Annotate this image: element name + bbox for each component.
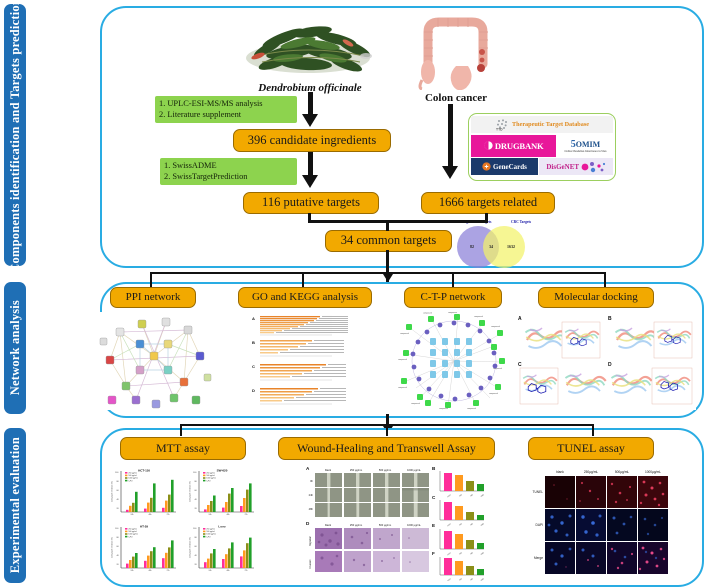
svg-text:250: 250 [459,523,463,526]
svg-text:Invasion: Invasion [309,559,312,569]
svg-text:C: C [252,364,255,369]
svg-text:compound: compound [423,313,432,315]
genecards-icon [482,162,491,171]
mtt-chart-title-hct116: HCT-116 [138,469,150,473]
network-bus-drop-docking [604,272,606,288]
panel-title-molecular-docking[interactable]: Molecular docking [538,287,654,308]
tunel-row-dapi: DAPI [536,523,544,527]
svg-text:500: 500 [470,523,474,526]
svg-text:48h: 48h [227,570,230,572]
experimental-bus-drop-mtt [180,424,182,436]
method-box-identification: 1. UPLC-ESI-MS/MS analysis 2. Literature… [155,96,297,123]
connector-horizontal-merge [308,220,488,223]
svg-text:compound: compound [474,316,483,318]
node-targets-related[interactable]: 1666 targets related [421,192,555,214]
docking-label-c: C [518,362,522,368]
omim-subtitle: Online Mendelian Inheritance in Man [564,150,606,153]
ctp-network-figure: compoundcompoundcompound compoundcompoun… [398,312,510,410]
mtt-assay-figure: 1008060 4020 HCT-116 24h48h72h 250 µg/mL [110,466,262,578]
sidebar-section-network: Network analysis [4,282,26,414]
svg-text:5-FU: 5-FU [128,536,133,538]
disgenet-network-icon [580,161,606,173]
svg-text:1000 µg/mL: 1000 µg/mL [407,523,421,527]
mtt-chart-title-ht29: HT-29 [140,525,149,529]
svg-text:TTD: TTD [496,128,503,131]
venn-diagram: Ingredient Targets CRC Targets 82 34 163… [455,220,555,268]
db-label-drugbank: DRUGBANK [495,141,544,151]
tunel-col-500: 500µg/mL [615,470,629,474]
svg-text:1000: 1000 [480,523,484,527]
svg-text:48h: 48h [149,570,152,572]
svg-text:24h: 24h [209,514,212,516]
svg-text:250: 250 [459,494,463,497]
tunel-col-250: 250µg/mL [584,470,598,474]
svg-text:Migration: Migration [309,535,312,546]
docking-label-a: A [518,316,522,322]
network-bus-drop-ctp [452,272,454,288]
svg-text:compound: compound [398,387,407,389]
arrow-ingredients-to-putative-head [302,175,318,188]
svg-text:250 µg/mL: 250 µg/mL [350,523,363,527]
svg-text:blank: blank [447,552,452,556]
svg-text:1000: 1000 [480,578,484,581]
svg-text:500: 500 [470,494,474,497]
node-candidate-ingredients[interactable]: 396 candidate ingredients [233,129,391,152]
db-logo-drugbank: DRUGBANK [471,135,556,157]
svg-text:A: A [252,316,255,321]
method-line-3: 1. SwissADME [164,160,293,171]
ttd-icon: TTD [495,118,509,131]
db-label-disgenet: DisGeNET [546,163,579,171]
svg-text:blank: blank [447,494,452,498]
panel-title-wound-transwell[interactable]: Wound-Healing and Transwell Assay [278,437,495,460]
svg-text:B: B [252,340,255,345]
db-label-genecards: GeneCards [493,163,527,171]
panel-title-ctp-network[interactable]: C-T-P network [404,287,502,308]
method-line-1: 1. UPLC-ESI-MS/MS analysis [159,98,293,109]
wound-label-c: C [432,495,436,500]
panel-title-go-kegg[interactable]: GO and KEGG analysis [238,287,372,308]
mtt-chart-title-sw620: SW-620 [217,469,228,473]
network-bus-drop-gokegg [302,272,304,288]
method-line-4: 2. SwissTargetPrediction [164,171,293,182]
db-logo-genecards: GeneCards [471,158,538,175]
svg-text:0h: 0h [310,479,313,483]
svg-text:5-FU: 5-FU [128,480,133,482]
go-kegg-enrichment-figure: ABCD [250,312,378,410]
wound-label-f: F [432,551,435,556]
svg-text:72h: 72h [167,514,170,516]
colon-cancer-image [408,10,504,90]
arrow-ingredients-to-putative [308,152,313,176]
svg-text:24h: 24h [309,493,314,497]
svg-text:blank: blank [447,523,452,527]
method-line-2: 2. Literature supplement [159,109,293,120]
db-logo-ttd: TTD Therapeutic Target Database [471,116,613,133]
db-logo-disgenet: DisGeNET [539,158,613,175]
svg-text:compound: compound [400,333,409,335]
svg-text:500: 500 [470,578,474,581]
tunel-assay-figure: blank 250µg/mL 500µg/mL 1000µg/mL TUNEL … [512,463,680,581]
venn-count-overlap: 34 [485,244,497,249]
disease-caption: Colon cancer [406,92,506,104]
panel-title-ppi-network[interactable]: PPI network [110,287,196,308]
experimental-bus-drop-wound [386,424,388,436]
db-label-ttd: Therapeutic Target Database [512,121,589,128]
svg-text:1000: 1000 [480,494,484,498]
venn-count-left: 82 [465,244,479,249]
svg-text:500 µg/mL: 500 µg/mL [379,523,392,527]
svg-text:Cell growth inhibition (%): Cell growth inhibition (%) [111,481,114,502]
arrow-plant-to-ingredients-head [302,114,318,127]
molecular-docking-figure: A B C D [516,312,696,410]
disease-database-box: TTD Therapeutic Target Database DRUGBANK… [468,113,616,181]
svg-text:72h: 72h [245,514,248,516]
mtt-chart-title-lovo: Lovo [218,525,225,529]
network-bus-horizontal [150,272,606,274]
svg-text:72h: 72h [245,570,248,572]
svg-text:compound: compound [439,408,448,410]
svg-text:500 µg/mL: 500 µg/mL [379,468,392,472]
svg-text:24h: 24h [131,514,134,516]
tunel-row-merge: Merge [534,556,543,560]
venn-label-right: CRC Targets [511,220,531,224]
sidebar-label-experimental: Experimental evaluation [8,437,23,573]
arrow-colon-to-targets [448,104,453,168]
db-logo-omim: 5 OMIM Online Mendelian Inheritance in M… [558,135,613,157]
svg-text:250: 250 [459,552,463,555]
svg-text:compound: compound [489,393,498,395]
node-putative-targets[interactable]: 116 putative targets [243,192,379,214]
sidebar-label-components: Components identification and Targets pr… [8,0,23,272]
panel-title-mtt-assay[interactable]: MTT assay [120,437,246,460]
svg-text:compound: compound [467,408,476,410]
sidebar-section-experimental: Experimental evaluation [4,428,26,583]
svg-text:48h: 48h [149,514,152,516]
svg-text:blank: blank [325,523,332,527]
node-common-targets[interactable]: 34 common targets [325,230,452,252]
ppi-network-figure [96,312,214,410]
arrow-plant-to-ingredients [308,92,313,116]
sidebar-label-network: Network analysis [8,300,23,395]
svg-text:48h: 48h [309,507,314,511]
svg-text:compound: compound [491,326,500,328]
svg-text:48h: 48h [227,514,230,516]
svg-text:blank: blank [447,578,452,581]
svg-text:250: 250 [459,578,463,581]
docking-label-d: D [608,362,612,368]
svg-text:compound: compound [448,312,457,314]
svg-text:500: 500 [470,552,474,555]
wound-healing-transwell-figure: A B C D E F blank250 µg/mL 500 µg/mL1000… [282,463,494,581]
tunel-col-1000: 1000µg/mL [645,470,661,474]
drugbank-icon [484,141,493,150]
db-label-omim: OMIM [576,140,600,149]
method-box-prediction: 1. SwissADME 2. SwissTargetPrediction [160,158,297,185]
wound-label-d: D [306,521,310,526]
venn-count-right: 1632 [502,244,520,249]
svg-text:Cell growth inhibition (%): Cell growth inhibition (%) [111,537,114,558]
sidebar-section-components: Components identification and Targets pr… [4,4,26,266]
svg-text:5-FU: 5-FU [206,480,211,482]
wound-label-e: E [432,523,435,528]
connector-to-common [386,220,389,231]
docking-label-b: B [608,316,612,322]
svg-text:D: D [252,388,255,393]
wound-label-b: B [432,466,436,471]
svg-text:compound: compound [398,359,407,361]
svg-text:72h: 72h [167,570,170,572]
svg-text:1000 µg/mL: 1000 µg/mL [407,468,421,472]
tunel-row-tunel: TUNEL [533,490,544,494]
experimental-bus-drop-tunel [592,424,594,436]
wound-label-a: A [306,466,310,471]
tunel-col-blank: blank [556,470,564,474]
svg-text:blank: blank [325,468,332,472]
svg-text:5-FU: 5-FU [206,536,211,538]
dendrobium-plant-image [228,12,388,80]
network-bus-drop-ppi [150,272,152,288]
svg-text:1000: 1000 [480,552,484,556]
svg-text:Cell growth inhibition (%): Cell growth inhibition (%) [189,481,192,502]
svg-text:compound: compound [411,403,420,405]
svg-text:24h: 24h [209,570,212,572]
svg-text:24h: 24h [131,570,134,572]
svg-text:compound: compound [493,368,502,370]
panel-title-tunel-assay[interactable]: TUNEL assay [528,437,654,460]
connector-common-to-network-head [383,274,393,282]
arrow-colon-to-targets-head [442,166,458,179]
svg-text:250 µg/mL: 250 µg/mL [350,468,363,472]
svg-text:Cell growth inhibition (%): Cell growth inhibition (%) [189,537,192,558]
